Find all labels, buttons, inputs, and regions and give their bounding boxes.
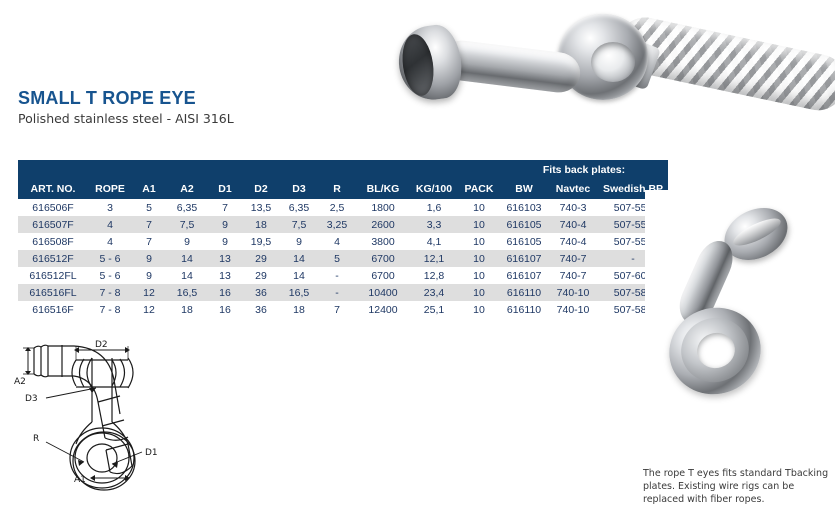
hero-product-photo (383, 0, 835, 130)
table-cell: - (318, 267, 356, 284)
table-cell: 1,6 (410, 199, 458, 216)
col-header-d2: D2 (242, 179, 280, 199)
table-cell: 12 (132, 284, 166, 301)
table-cell: 5 - 6 (88, 267, 132, 284)
table-row: 616516F7 - 8121816361871240025,110616110… (18, 301, 668, 318)
table-cell: 740-10 (548, 284, 598, 301)
table-cell: 9 (166, 233, 208, 250)
table-cell: 4,1 (410, 233, 458, 250)
table-cell: 4 (318, 233, 356, 250)
table-cell: 7 (132, 233, 166, 250)
table-cell: 616107 (500, 250, 548, 267)
table-cell: 616105 (500, 233, 548, 250)
table-cell: 7,5 (280, 216, 318, 233)
table-cell: 616506F (18, 199, 88, 216)
table-cell: 18 (166, 301, 208, 318)
table-cell: 36 (242, 284, 280, 301)
table-cell: 14 (166, 250, 208, 267)
table-cell: 616516F (18, 301, 88, 318)
dim-label-r: R (33, 434, 39, 444)
table-cell: 16 (208, 284, 242, 301)
table-cell: 12 (132, 301, 166, 318)
table-cell: - (318, 284, 356, 301)
table-cell: 9 (280, 233, 318, 250)
table-cell: 5 (132, 199, 166, 216)
col-header-a2: A2 (166, 179, 208, 199)
table-cell: 2600 (356, 216, 410, 233)
table-cell: 3,3 (410, 216, 458, 233)
technical-drawings-svg: A2 D3 A1 (0, 330, 320, 500)
table-cell: 6,35 (166, 199, 208, 216)
table-cell: 25,1 (410, 301, 458, 318)
table-cell: 18 (280, 301, 318, 318)
table-cell: 7 (132, 216, 166, 233)
table-cell: 1800 (356, 199, 410, 216)
table-cell: 616110 (500, 284, 548, 301)
technical-drawings: A2 D3 A1 (0, 330, 320, 500)
table-cell: 7 (208, 199, 242, 216)
table-cell: 29 (242, 250, 280, 267)
table-cell: 12,8 (410, 267, 458, 284)
table-cell: 740-4 (548, 233, 598, 250)
table-cell: 18 (242, 216, 280, 233)
dim-label-d1: D1 (145, 448, 158, 458)
col-header-bw: BW (500, 179, 548, 199)
spec-table-container: Fits back plates: ART. NO. ROPE A1 A2 D1… (18, 160, 633, 318)
table-cell: 4 (88, 216, 132, 233)
table-cell: 12,1 (410, 250, 458, 267)
spec-table-body: 616506F356,35713,56,352,518001,610616103… (18, 199, 668, 318)
table-cell: 7,5 (166, 216, 208, 233)
col-header-navtec: Navtec (548, 179, 598, 199)
table-cell: 9 (132, 250, 166, 267)
table-cell: 36 (242, 301, 280, 318)
table-cell: 3,25 (318, 216, 356, 233)
table-cell: 7 (318, 301, 356, 318)
table-cell: 616507F (18, 216, 88, 233)
group-header-spacer (18, 160, 500, 179)
table-row: 616516FL7 - 81216,5163616,5-1040023,4106… (18, 284, 668, 301)
col-header-d1: D1 (208, 179, 242, 199)
table-cell: 14 (280, 250, 318, 267)
table-cell: 16 (208, 301, 242, 318)
table-cell: 740-4 (548, 216, 598, 233)
group-header-fits-back-plates: Fits back plates: (500, 160, 668, 179)
spec-table-head: Fits back plates: ART. NO. ROPE A1 A2 D1… (18, 160, 668, 199)
table-cell: 6700 (356, 267, 410, 284)
table-cell: 740-7 (548, 250, 598, 267)
table-cell: 10 (458, 233, 500, 250)
table-cell: 616508F (18, 233, 88, 250)
detail-product-photo (645, 190, 825, 440)
table-cell: 6700 (356, 250, 410, 267)
table-cell: 14 (280, 267, 318, 284)
table-cell: 10 (458, 216, 500, 233)
table-cell: 13,5 (242, 199, 280, 216)
page-title: SMALL T ROPE EYE (18, 88, 234, 109)
table-cell: 16,5 (280, 284, 318, 301)
table-cell: 7 - 8 (88, 284, 132, 301)
page-subtitle: Polished stainless steel - AISI 316L (18, 111, 234, 126)
table-row: 616508F479919,59438004,110616105740-4507… (18, 233, 668, 250)
table-cell: 13 (208, 250, 242, 267)
spec-table-column-header-row: ART. NO. ROPE A1 A2 D1 D2 D3 R BL/KG KG/… (18, 179, 668, 199)
dim-label-d3: D3 (25, 394, 38, 404)
table-cell: 2,5 (318, 199, 356, 216)
table-cell: 12400 (356, 301, 410, 318)
table-cell: 10 (458, 284, 500, 301)
spec-table-group-header-row: Fits back plates: (18, 160, 668, 179)
rope-eye-hole-graphic (591, 42, 635, 82)
table-cell: 10 (458, 267, 500, 284)
table-cell: 616110 (500, 301, 548, 318)
table-cell: 13 (208, 267, 242, 284)
table-row: 616512F5 - 69141329145670012,11061610774… (18, 250, 668, 267)
table-cell: 616512FL (18, 267, 88, 284)
table-cell: 7 - 8 (88, 301, 132, 318)
table-cell: 16,5 (166, 284, 208, 301)
table-cell: 5 - 6 (88, 250, 132, 267)
col-header-bl-kg: BL/KG (356, 179, 410, 199)
table-row: 616506F356,35713,56,352,518001,610616103… (18, 199, 668, 216)
table-cell: 10 (458, 301, 500, 318)
table-cell: 9 (132, 267, 166, 284)
table-cell: 9 (208, 216, 242, 233)
table-cell: 3800 (356, 233, 410, 250)
col-header-rope: ROPE (88, 179, 132, 199)
table-cell: 10 (458, 250, 500, 267)
table-cell: 14 (166, 267, 208, 284)
table-cell: 29 (242, 267, 280, 284)
front-view-drawing (46, 346, 142, 490)
table-cell: 616103 (500, 199, 548, 216)
table-cell: 10 (458, 199, 500, 216)
dim-label-d2: D2 (95, 340, 108, 350)
table-cell: 616105 (500, 216, 548, 233)
spec-table: Fits back plates: ART. NO. ROPE A1 A2 D1… (18, 160, 668, 318)
col-header-a1: A1 (132, 179, 166, 199)
table-cell: 616512F (18, 250, 88, 267)
col-header-d3: D3 (280, 179, 318, 199)
table-cell: 9 (208, 233, 242, 250)
table-cell: 19,5 (242, 233, 280, 250)
title-block: SMALL T ROPE EYE Polished stainless stee… (18, 88, 234, 126)
table-cell: 4 (88, 233, 132, 250)
table-cell: 740-7 (548, 267, 598, 284)
table-cell: 23,4 (410, 284, 458, 301)
product-caption: The rope T eyes fits standard Tbacking p… (643, 467, 835, 506)
table-cell: 740-10 (548, 301, 598, 318)
col-header-kg-100: KG/100 (410, 179, 458, 199)
dim-label-a2: A2 (14, 377, 26, 387)
table-cell: 616516FL (18, 284, 88, 301)
table-row: 616512FL5 - 6914132914-670012,8106161077… (18, 267, 668, 284)
table-row: 616507F477,59187,53,2526003,310616105740… (18, 216, 668, 233)
col-header-art-no: ART. NO. (18, 179, 88, 199)
col-header-r: R (318, 179, 356, 199)
table-cell: 3 (88, 199, 132, 216)
table-cell: 616107 (500, 267, 548, 284)
table-cell: 6,35 (280, 199, 318, 216)
table-cell: 10400 (356, 284, 410, 301)
table-cell: 740-3 (548, 199, 598, 216)
col-header-pack: PACK (458, 179, 500, 199)
side-view-drawing (23, 345, 132, 481)
table-cell: 5 (318, 250, 356, 267)
